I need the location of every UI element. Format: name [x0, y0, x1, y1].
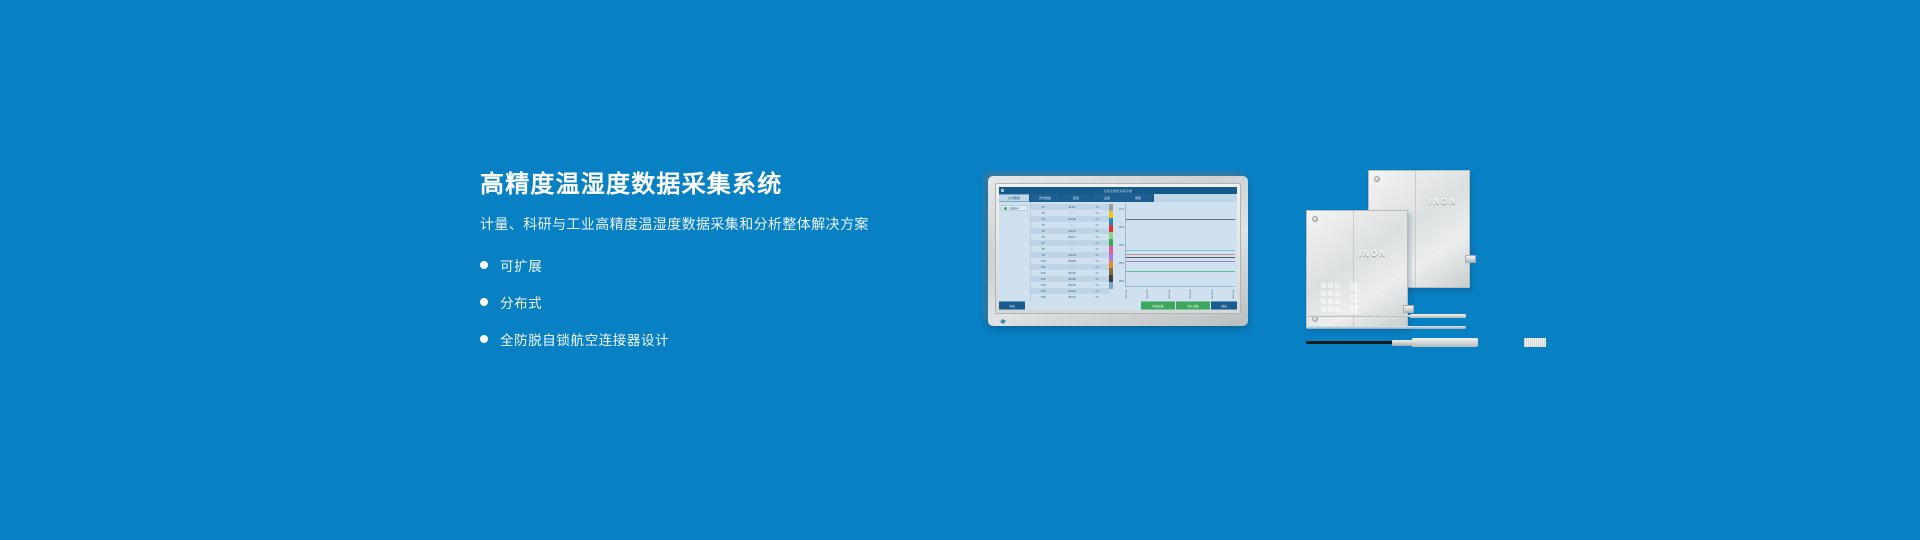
etch-cell [1321, 299, 1326, 304]
probe-cable [1306, 341, 1396, 344]
etch-cell [1335, 291, 1340, 296]
app-menu-icon [1001, 189, 1004, 192]
table-row: T1526.90°C [1031, 288, 1109, 294]
probe-ferrule [1392, 340, 1414, 346]
cell-value: --- [1055, 223, 1089, 227]
cell-value: 26.15 [1055, 283, 1089, 287]
page-title: 高精度温湿度数据采集系统 [480, 172, 910, 198]
cell-value: 26.38 [1055, 253, 1089, 257]
cell-unit: °C [1089, 205, 1105, 209]
chart-y-tick: 27.0 [1119, 208, 1124, 211]
cell-value: --- [1055, 211, 1089, 215]
legend-swatch [1109, 268, 1113, 275]
legend-swatch [1109, 261, 1113, 268]
cell-value: 21.81 [1055, 205, 1089, 209]
etch-cell [1321, 283, 1326, 288]
app-footer-bar: 导出 开始采集 停止采集 退出 [999, 301, 1237, 310]
table-row: T1625.94°C [1031, 294, 1109, 300]
feature-label: 全防脱自锁航空连接器设计 [500, 329, 669, 349]
table-row: T2---°C [1031, 210, 1109, 216]
cell-value: 26.19 [1055, 217, 1089, 221]
start-acquisition-button[interactable]: 开始采集 [1141, 301, 1176, 309]
cell-channel: T4 [1031, 223, 1055, 227]
chart-plot-area [1125, 204, 1235, 287]
chart-series-line [1126, 250, 1235, 251]
cell-unit: °C [1089, 217, 1105, 221]
cell-unit: °C [1089, 259, 1105, 263]
cell-value: --- [1055, 241, 1089, 245]
cell-value: 26.28 [1055, 277, 1089, 281]
app-tab-bar: 实时数据 历史数据 报表 设置 帮助 [999, 194, 1237, 202]
chart-y-tick: 26.5 [1119, 226, 1124, 229]
tab-help[interactable]: 帮助 [1123, 194, 1154, 201]
page-subtitle: 计量、科研与工业高精度温湿度数据采集和分析整体解决方案 [480, 216, 910, 233]
cell-unit: °C [1089, 211, 1105, 215]
legend-swatch [1109, 239, 1113, 246]
chart-series-line [1126, 257, 1235, 258]
chart-x-axis: 09:20:1509:22:1509:24:1509:26:1509:28:15… [1125, 288, 1235, 299]
cell-channel: T10 [1031, 259, 1055, 263]
cell-channel: T5 [1031, 229, 1055, 233]
monitor-product-image: 温湿度数据采集系统 实时数据 历史数据 报表 设置 帮助 [988, 176, 1248, 326]
cell-channel: T6 [1031, 235, 1055, 239]
probe-tip [1410, 314, 1466, 318]
export-button[interactable]: 导出 [999, 301, 1025, 309]
sidebar-item-device[interactable]: 采集器-1 [1001, 205, 1028, 211]
brand-logo: INON [1429, 197, 1457, 206]
table-row: T626.07°C [1031, 234, 1109, 240]
cell-value: 25.92 [1055, 271, 1089, 275]
connector-port [1465, 255, 1476, 263]
sensor-probes-image [1306, 314, 1486, 360]
chart-x-tick: 09:20:15 [1125, 288, 1128, 299]
table-row: T8---°C [1031, 246, 1109, 252]
etch-cell [1335, 299, 1340, 304]
thin-sensor-probe [1306, 326, 1466, 329]
table-row: T326.19°C [1031, 216, 1109, 222]
feature-label: 可扩展 [500, 255, 542, 275]
cell-unit: °C [1089, 271, 1105, 275]
legend-swatch [1109, 275, 1113, 282]
chart-y-tick: 25.0 [1119, 280, 1124, 283]
tab-bar-filler [1154, 194, 1237, 202]
chart-x-tick: 09:26:15 [1189, 288, 1192, 299]
promo-banner: 高精度温湿度数据采集系统 计量、科研与工业高精度温湿度数据采集和分析整体解决方案… [0, 0, 1920, 540]
etch-cell [1328, 291, 1333, 296]
tab-realtime[interactable]: 实时数据 [999, 194, 1030, 201]
cell-channel: T12 [1031, 271, 1055, 275]
chart-x-tick: 09:24:15 [1168, 288, 1171, 299]
list-item: 分布式 [480, 292, 910, 312]
table-row: T121.81°C [1031, 204, 1109, 210]
legend-swatch [1109, 204, 1113, 211]
probe-connector-body [1412, 338, 1478, 347]
cell-unit: °C [1089, 229, 1105, 233]
exit-button[interactable]: 退出 [1211, 301, 1237, 309]
etch-cell [1335, 307, 1340, 312]
cell-channel: T15 [1031, 289, 1055, 293]
etch-cell [1321, 307, 1326, 312]
cell-channel: T2 [1031, 211, 1055, 215]
cell-channel: T11 [1031, 265, 1055, 269]
chart-series-line [1126, 219, 1235, 220]
cell-unit: °C [1089, 235, 1105, 239]
etch-cell [1328, 283, 1333, 288]
cell-channel: T3 [1031, 217, 1055, 221]
cell-value: 26.08 [1055, 259, 1089, 263]
table-row: T1326.28°C [1031, 276, 1109, 282]
cell-unit: °C [1089, 277, 1105, 281]
etch-port [1351, 294, 1358, 303]
cell-channel: T14 [1031, 283, 1055, 287]
table-row: T926.38°C [1031, 252, 1109, 258]
etch-port [1351, 283, 1358, 292]
monitor-bezel: 温湿度数据采集系统 实时数据 历史数据 报表 设置 帮助 [988, 176, 1248, 326]
legend-swatch [1109, 211, 1113, 218]
feature-list: 可扩展 分布式 全防脱自锁航空连接器设计 [480, 255, 910, 349]
stop-acquisition-button[interactable]: 停止采集 [1176, 301, 1211, 309]
app-main-area: 采集器-1 T121.81°C T2---°C T326.19°C T4---°… [999, 202, 1237, 301]
enclosure-seam [1415, 171, 1416, 287]
legend-swatch [1109, 282, 1113, 289]
cell-unit: °C [1089, 283, 1105, 287]
bullet-dot-icon [480, 335, 488, 343]
cell-channel: T13 [1031, 277, 1055, 281]
cell-value: 26.12 [1055, 229, 1089, 233]
table-row: T526.12°C [1031, 228, 1109, 234]
table-row: T4---°C [1031, 222, 1109, 228]
probe-shaft [1306, 315, 1416, 317]
chart-series-line [1126, 271, 1235, 272]
legend-swatch [1109, 225, 1113, 232]
legend-swatch [1109, 232, 1113, 239]
cell-value: --- [1055, 247, 1089, 251]
bullet-dot-icon [480, 298, 488, 306]
list-item: 全防脱自锁航空连接器设计 [480, 329, 910, 349]
screw-icon [1374, 176, 1380, 182]
tab-settings[interactable]: 设置 [1092, 194, 1123, 201]
footer-spacer [1025, 301, 1141, 309]
app-title-bar: 温湿度数据采集系统 [999, 187, 1237, 194]
etch-cell [1328, 307, 1333, 312]
probe-knurl [1524, 338, 1546, 347]
channel-table: T121.81°C T2---°C T326.19°C T4---°C T526… [1031, 202, 1109, 301]
cell-channel: T8 [1031, 247, 1055, 251]
front-enclosure: INON [1306, 210, 1408, 328]
channel-color-legend [1109, 204, 1113, 289]
bullet-dot-icon [480, 261, 488, 269]
cell-value: 25.94 [1055, 295, 1089, 299]
cell-unit: °C [1089, 289, 1105, 293]
table-row: T11---°C [1031, 264, 1109, 270]
legend-swatch [1109, 246, 1113, 253]
trend-chart: 27.026.526.025.525.0 09:20:1509:22:1509:… [1114, 202, 1237, 301]
cell-unit: °C [1089, 295, 1105, 299]
cell-unit: °C [1089, 253, 1105, 257]
chart-series-line [1126, 254, 1235, 255]
legend-swatch [1109, 254, 1113, 261]
cell-channel: T7 [1031, 241, 1055, 245]
chart-series-line [1126, 261, 1235, 262]
cell-channel: T16 [1031, 295, 1055, 299]
monitor-screen: 温湿度数据采集系统 实时数据 历史数据 报表 设置 帮助 [999, 187, 1237, 310]
screw-icon [1312, 216, 1318, 222]
device-name: 采集器-1 [1009, 206, 1019, 210]
table-row: T1225.92°C [1031, 270, 1109, 276]
cell-value: 26.90 [1055, 289, 1089, 293]
chart-y-tick: 25.5 [1119, 262, 1124, 265]
chart-x-tick: 09:22:15 [1147, 288, 1150, 299]
table-row: T7---°C [1031, 240, 1109, 246]
status-online-icon [1004, 207, 1007, 210]
brand-logo: INON [1359, 249, 1387, 258]
chart-y-tick: 26.0 [1119, 244, 1124, 247]
cell-unit: °C [1089, 247, 1105, 251]
etch-cell [1328, 299, 1333, 304]
banner-copy: 高精度温湿度数据采集系统 计量、科研与工业高精度温湿度数据采集和分析整体解决方案… [480, 172, 910, 366]
tab-history[interactable]: 历史数据 [1030, 194, 1061, 201]
chart-y-axis: 27.026.526.025.525.0 [1114, 208, 1124, 283]
cell-channel: T1 [1031, 205, 1055, 209]
list-item: 可扩展 [480, 255, 910, 275]
etched-label-pattern [1321, 283, 1373, 315]
table-row: T1426.15°C [1031, 282, 1109, 288]
app-title: 温湿度数据采集系统 [1104, 189, 1133, 193]
table-row: T1026.08°C [1031, 258, 1109, 264]
cell-value: --- [1055, 265, 1089, 269]
legend-swatch [1109, 218, 1113, 225]
etch-port [1351, 305, 1358, 314]
cell-value: 26.07 [1055, 235, 1089, 239]
chart-x-tick: 09:30:15 [1232, 288, 1235, 299]
etch-cell [1321, 291, 1326, 296]
cabled-connector-probe [1306, 338, 1478, 347]
tab-report[interactable]: 报表 [1061, 194, 1092, 201]
probe-shaft [1306, 326, 1466, 329]
stainless-probe [1306, 314, 1466, 318]
device-sidebar: 采集器-1 [999, 202, 1031, 301]
cell-unit: °C [1089, 241, 1105, 245]
cell-unit: °C [1089, 223, 1105, 227]
feature-label: 分布式 [500, 292, 542, 312]
connector-port [1403, 305, 1414, 313]
chart-x-tick: 09:28:15 [1211, 288, 1214, 299]
etch-cell [1335, 283, 1340, 288]
monitor-inner-bevel: 温湿度数据采集系统 实时数据 历史数据 报表 设置 帮助 [995, 183, 1241, 314]
cell-unit: °C [1089, 265, 1105, 269]
monitor-brand-logo-icon [1000, 319, 1006, 324]
cell-channel: T9 [1031, 253, 1055, 257]
